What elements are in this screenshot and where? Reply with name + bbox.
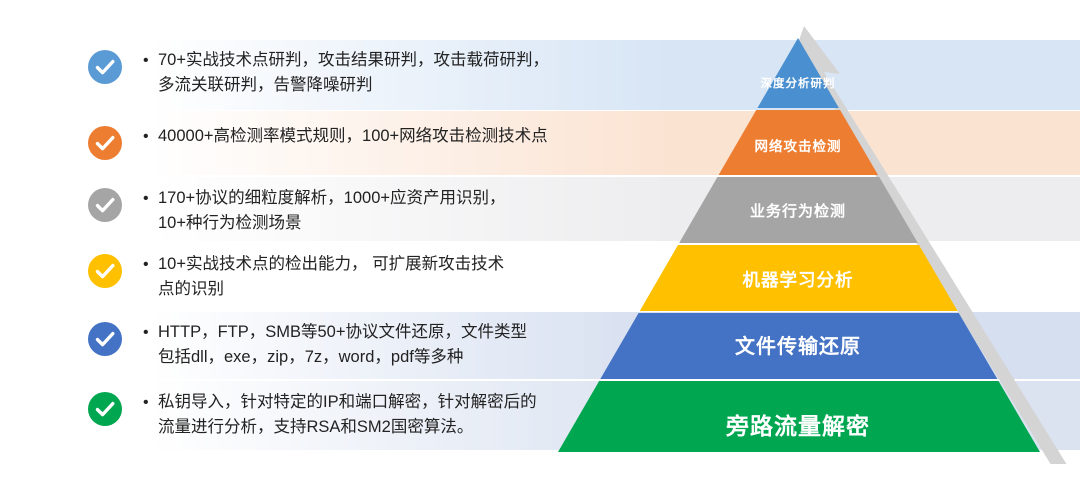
feature-row: •170+协议的细粒度解析，1000+应资产用识别，10+种行为检测场景 (88, 186, 506, 236)
tier-behavior-detection-label: 业务行为检测 (750, 200, 846, 221)
feature-row: •私钥导入，针对特定的IP和端口解密，针对解密后的流量进行分析，支持RSA和SM… (88, 390, 537, 440)
feature-row-line: 170+协议的细粒度解析，1000+应资产用识别， (158, 186, 506, 211)
upward-arrow-icon (790, 26, 1066, 464)
bullet-icon: • (143, 390, 149, 415)
feature-row: •70+实战技术点研判，攻击结果研判，攻击载荷研判，多流关联研判，告警降噪研判 (88, 48, 549, 98)
tier-attack-detection-label: 网络攻击检测 (755, 135, 842, 155)
feature-row-text: •私钥导入，针对特定的IP和端口解密，针对解密后的流量进行分析，支持RSA和SM… (143, 390, 537, 440)
bullet-icon: • (143, 252, 149, 277)
feature-row-line: 10+种行为检测场景 (158, 211, 506, 236)
check-circle-icon-orange (88, 126, 122, 160)
feature-row-line: HTTP，FTP，SMB等50+协议文件还原，文件类型 (158, 320, 527, 345)
feature-row-line: 10+实战技术点的检出能力， 可扩展新攻击技术 (158, 252, 504, 277)
feature-row: •40000+高检测率模式规则，100+网络攻击检测技术点 (88, 124, 548, 160)
feature-row-line: 40000+高检测率模式规则，100+网络攻击检测技术点 (158, 124, 548, 149)
bullet-icon: • (143, 48, 149, 73)
feature-row-line: 私钥导入，针对特定的IP和端口解密，针对解密后的 (158, 390, 537, 415)
feature-row-text: •40000+高检测率模式规则，100+网络攻击检测技术点 (143, 124, 548, 149)
feature-row-line: 包括dll，exe，zip，7z，word，pdf等多种 (158, 345, 527, 370)
feature-row-text: •10+实战技术点的检出能力， 可扩展新攻击技术点的识别 (143, 252, 504, 302)
infographic-canvas: 深度分析研判网络攻击检测业务行为检测机器学习分析文件传输还原旁路流量解密 •70… (0, 0, 1080, 481)
tier-file-restore-label: 文件传输还原 (735, 330, 861, 359)
feature-row-text: •HTTP，FTP，SMB等50+协议文件还原，文件类型包括dll，exe，zi… (143, 320, 527, 370)
check-circle-icon-blue-dark (88, 322, 122, 356)
feature-row-line: 70+实战技术点研判，攻击结果研判，攻击载荷研判， (158, 48, 549, 73)
check-circle-icon-blue-light (88, 50, 122, 84)
feature-row-line: 多流关联研判，告警降噪研判 (158, 73, 549, 98)
feature-row-line: 点的识别 (158, 277, 504, 302)
tier-traffic-decrypt-label: 旁路流量解密 (726, 407, 870, 441)
tier-deep-analysis[interactable] (757, 38, 838, 108)
bullet-icon: • (143, 320, 149, 345)
tier-machine-learning-label: 机器学习分析 (743, 267, 854, 292)
bullet-icon: • (143, 186, 149, 211)
feature-row: •10+实战技术点的检出能力， 可扩展新攻击技术点的识别 (88, 252, 504, 302)
feature-row: •HTTP，FTP，SMB等50+协议文件还原，文件类型包括dll，exe，zi… (88, 320, 527, 370)
feature-row-text: •70+实战技术点研判，攻击结果研判，攻击载荷研判，多流关联研判，告警降噪研判 (143, 48, 549, 98)
check-circle-icon-green (88, 392, 122, 426)
check-circle-icon-gray (88, 188, 122, 222)
check-circle-icon-yellow (88, 254, 122, 288)
bullet-icon: • (143, 124, 149, 149)
feature-row-text: •170+协议的细粒度解析，1000+应资产用识别，10+种行为检测场景 (143, 186, 506, 236)
feature-row-line: 流量进行分析，支持RSA和SM2国密算法。 (158, 415, 537, 440)
tier-deep-analysis-label: 深度分析研判 (761, 75, 836, 91)
